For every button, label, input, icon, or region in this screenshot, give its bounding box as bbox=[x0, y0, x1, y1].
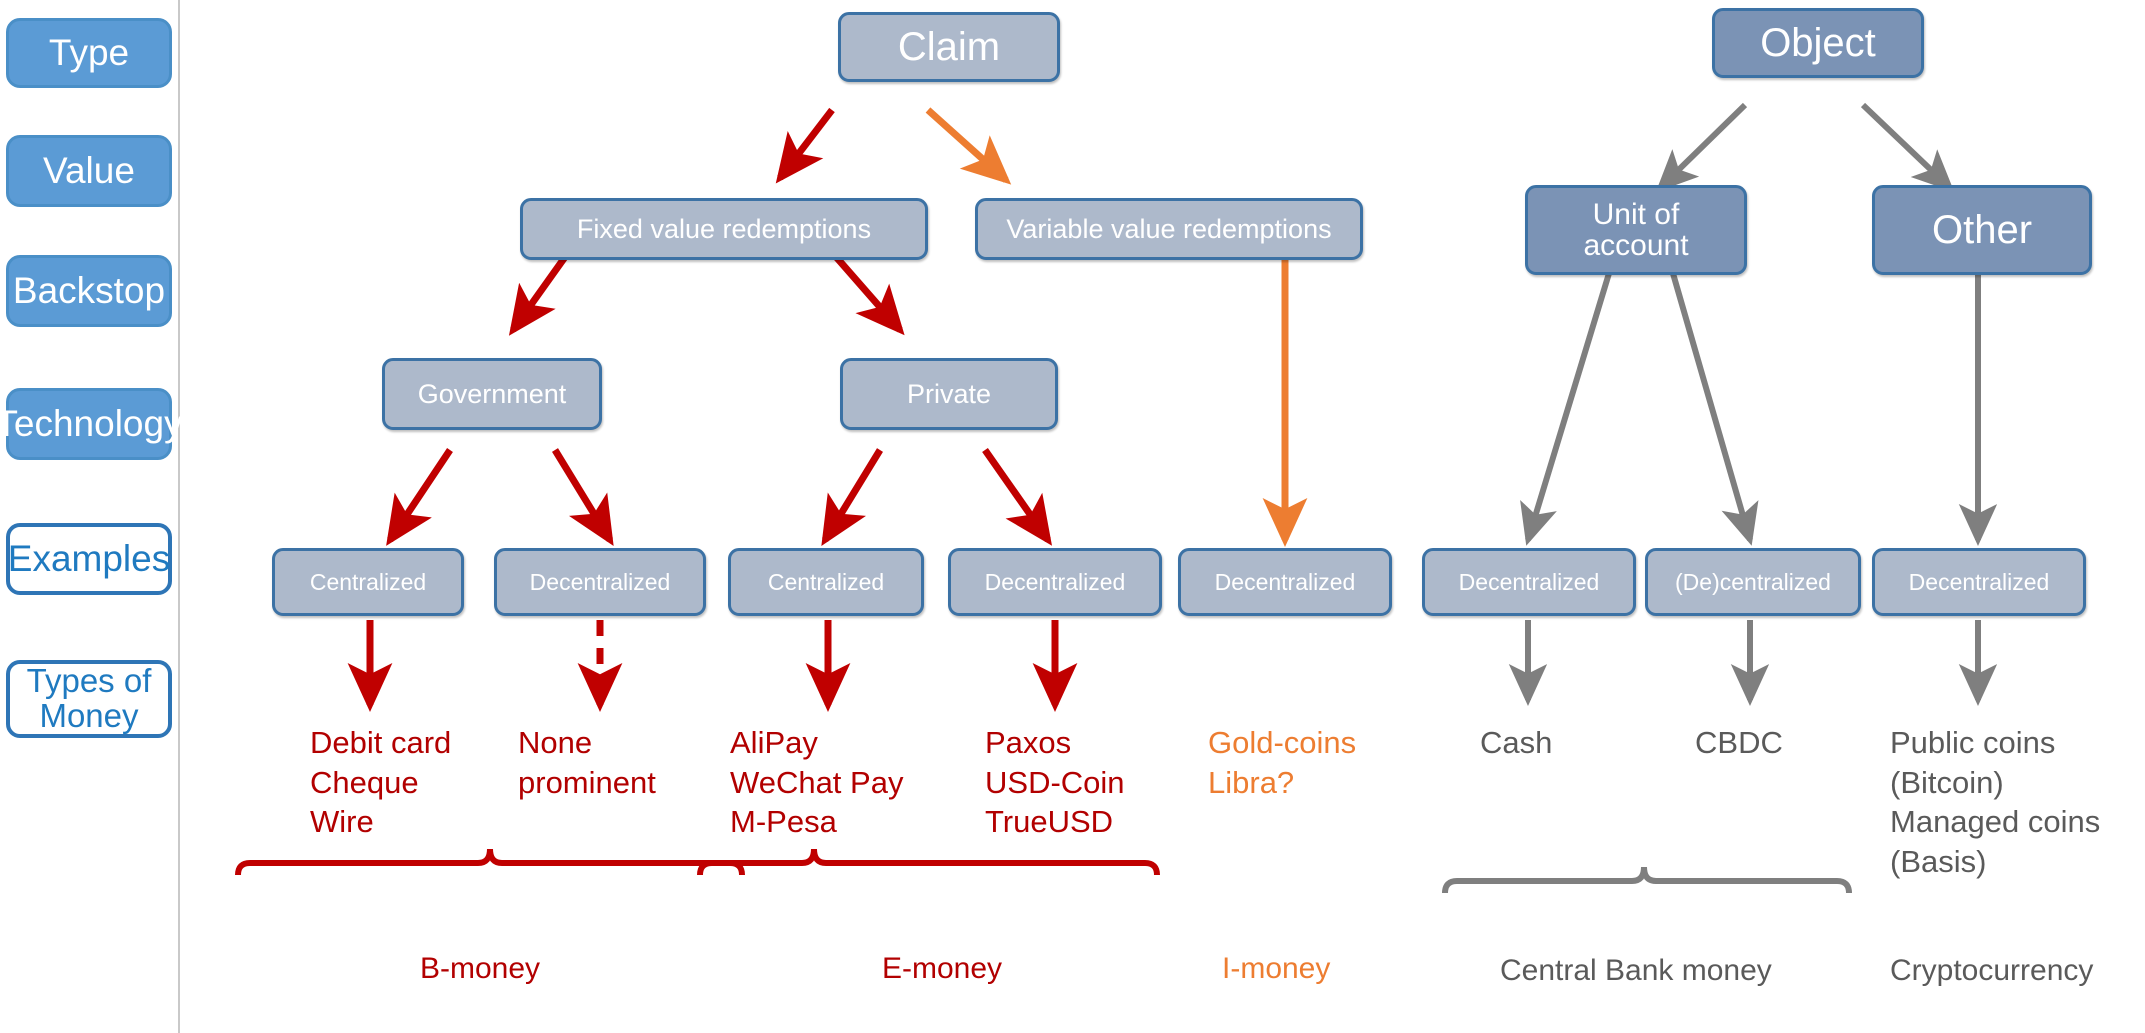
arrow-unit-to-decentralized bbox=[1528, 270, 1610, 540]
node-tech-gov-centralized[interactable]: Centralized bbox=[272, 548, 464, 616]
arrow-government-to-centralized bbox=[390, 450, 450, 540]
node-tech-priv-centralized[interactable]: Centralized bbox=[728, 548, 924, 616]
node-other[interactable]: Other bbox=[1872, 185, 2092, 275]
example-priv-decentralized: Paxos USD-Coin TrueUSD bbox=[985, 723, 1125, 842]
money-type-i-money: I-money bbox=[1222, 950, 1330, 988]
brace-e-money bbox=[700, 849, 1157, 875]
node-variable-value-redemptions[interactable]: Variable value redemptions bbox=[975, 198, 1363, 260]
arrow-government-to-decentralized bbox=[555, 450, 610, 540]
node-unit-of-account[interactable]: Unit of account bbox=[1525, 185, 1747, 275]
example-priv-centralized: AliPay WeChat Pay M-Pesa bbox=[730, 723, 903, 842]
money-type-central-bank-money: Central Bank money bbox=[1500, 952, 1772, 990]
node-tech-gov-decentralized-label: Decentralized bbox=[530, 570, 671, 594]
legend-label-type: Type bbox=[49, 34, 129, 73]
diagram-canvas: Type Value Backstop Technology Examples … bbox=[0, 0, 2145, 1033]
arrow-object-to-other bbox=[1863, 105, 1950, 188]
node-other-label: Other bbox=[1932, 209, 2032, 251]
connector-overlay bbox=[0, 0, 2145, 1033]
node-private-label: Private bbox=[907, 380, 991, 408]
legend-row-backstop[interactable]: Backstop bbox=[6, 255, 172, 327]
node-fixed-value-redemptions[interactable]: Fixed value redemptions bbox=[520, 198, 928, 260]
brace-b-money bbox=[238, 849, 742, 875]
arrow-private-to-decentralized bbox=[985, 450, 1048, 540]
legend-label-technology: Technology bbox=[0, 405, 183, 444]
node-tech-unit-de-centralized[interactable]: (De)centralized bbox=[1645, 548, 1861, 616]
node-private[interactable]: Private bbox=[840, 358, 1058, 430]
money-type-cryptocurrency: Cryptocurrency bbox=[1890, 952, 2093, 990]
node-object[interactable]: Object bbox=[1712, 8, 1924, 78]
node-tech-unit-decentralized-label: Decentralized bbox=[1459, 570, 1600, 594]
node-tech-unit-de-centralized-label: (De)centralized bbox=[1675, 570, 1831, 594]
legend-row-types-of-money[interactable]: Types of Money bbox=[6, 660, 172, 738]
node-tech-variable-decentralized-label: Decentralized bbox=[1215, 570, 1356, 594]
legend-row-value[interactable]: Value bbox=[6, 135, 172, 207]
arrow-private-to-centralized bbox=[825, 450, 880, 540]
arrow-fixed-to-private bbox=[830, 250, 900, 330]
node-fixed-value-redemptions-label: Fixed value redemptions bbox=[577, 215, 871, 243]
example-gov-centralized: Debit card Cheque Wire bbox=[310, 723, 451, 842]
arrow-claim-to-variable bbox=[928, 110, 1006, 180]
legend-row-technology[interactable]: Technology bbox=[6, 388, 172, 460]
node-tech-gov-centralized-label: Centralized bbox=[310, 570, 426, 594]
node-tech-variable-decentralized[interactable]: Decentralized bbox=[1178, 548, 1392, 616]
example-gov-decentralized: None prominent bbox=[518, 723, 656, 802]
node-tech-priv-centralized-label: Centralized bbox=[768, 570, 884, 594]
example-unit-cbdc: CBDC bbox=[1695, 723, 1783, 763]
legend-row-type[interactable]: Type bbox=[6, 18, 172, 88]
node-tech-unit-decentralized[interactable]: Decentralized bbox=[1422, 548, 1636, 616]
legend-divider bbox=[178, 0, 180, 1033]
legend-label-types-of-money: Types of Money bbox=[27, 664, 152, 733]
node-tech-other-decentralized[interactable]: Decentralized bbox=[1872, 548, 2086, 616]
node-variable-value-redemptions-label: Variable value redemptions bbox=[1006, 215, 1331, 243]
legend-label-value: Value bbox=[43, 152, 135, 191]
arrow-fixed-to-government bbox=[513, 250, 570, 330]
arrow-unit-to-de-centralized bbox=[1672, 270, 1750, 540]
arrow-object-to-unit bbox=[1660, 105, 1745, 188]
legend-row-examples[interactable]: Examples bbox=[6, 523, 172, 595]
node-tech-gov-decentralized[interactable]: Decentralized bbox=[494, 548, 706, 616]
example-variable-decentralized: Gold-coins Libra? bbox=[1208, 723, 1356, 802]
node-tech-priv-decentralized[interactable]: Decentralized bbox=[948, 548, 1162, 616]
example-unit-cash: Cash bbox=[1480, 723, 1552, 763]
node-tech-priv-decentralized-label: Decentralized bbox=[985, 570, 1126, 594]
legend-label-backstop: Backstop bbox=[13, 272, 165, 311]
node-object-label: Object bbox=[1760, 22, 1876, 64]
money-type-b-money: B-money bbox=[420, 950, 540, 988]
node-claim-label: Claim bbox=[898, 26, 1000, 68]
node-government-label: Government bbox=[418, 380, 567, 408]
money-type-e-money: E-money bbox=[882, 950, 1002, 988]
example-other: Public coins (Bitcoin) Managed coins (Ba… bbox=[1890, 723, 2100, 882]
node-unit-of-account-label: Unit of account bbox=[1583, 199, 1688, 262]
brace-central-bank-money bbox=[1445, 867, 1849, 893]
node-claim[interactable]: Claim bbox=[838, 12, 1060, 82]
arrow-claim-to-fixed bbox=[780, 110, 832, 178]
node-tech-other-decentralized-label: Decentralized bbox=[1909, 570, 2050, 594]
legend-label-examples: Examples bbox=[8, 540, 170, 579]
node-government[interactable]: Government bbox=[382, 358, 602, 430]
